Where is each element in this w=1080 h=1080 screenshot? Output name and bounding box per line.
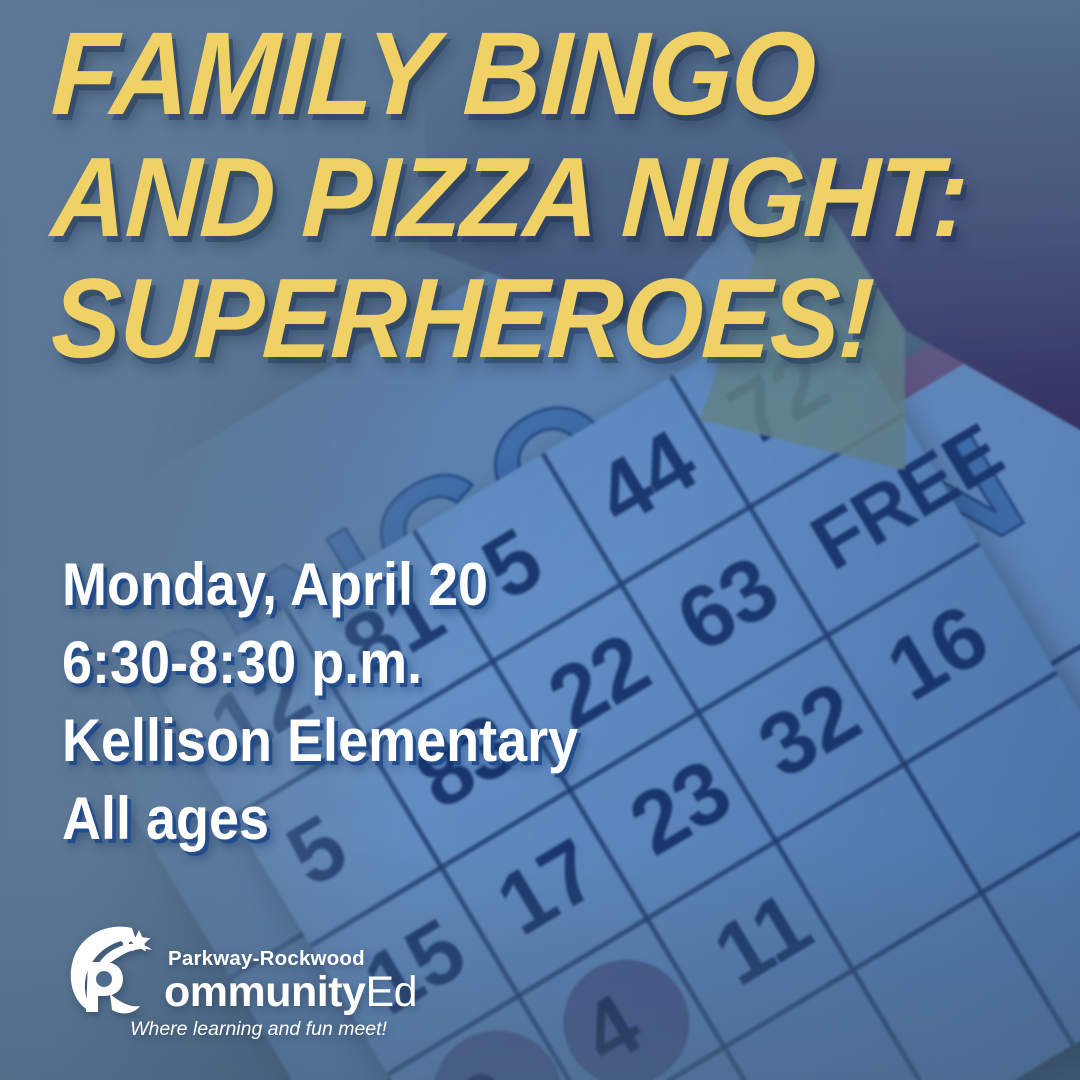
event-location: Kellison Elementary bbox=[62, 702, 578, 780]
headline-line-3: SUPERHEROES! bbox=[49, 264, 956, 372]
poster-canvas: BINGO BIN 85 16 4 12 81 bbox=[0, 0, 1080, 1080]
headline-line-2: AND PIZZA NIGHT: bbox=[49, 143, 956, 251]
pr-swoosh-star-icon bbox=[66, 922, 170, 1014]
event-time: 6:30-8:30 p.m. bbox=[62, 624, 578, 702]
logo-brand-bold: ommunity bbox=[164, 968, 365, 1016]
community-ed-logo: Parkway-Rockwood ommunityEd Where learni… bbox=[66, 922, 417, 1041]
event-details-block: Monday, April 20 6:30-8:30 p.m. Kellison… bbox=[62, 546, 636, 858]
event-date: Monday, April 20 bbox=[62, 546, 578, 624]
logo-brand-light: Ed bbox=[365, 968, 417, 1016]
logo-tagline: Where learning and fun meet! bbox=[100, 1018, 417, 1041]
logo-brand-main: ommunityEd bbox=[164, 972, 417, 1012]
event-audience: All ages bbox=[62, 780, 578, 858]
headline-line-1: FAMILY BINGO bbox=[49, 18, 956, 131]
logo-brand-top: Parkway-Rockwood bbox=[168, 949, 417, 970]
headline-block: FAMILY BINGO AND PIZZA NIGHT: SUPERHEROE… bbox=[52, 18, 1032, 384]
